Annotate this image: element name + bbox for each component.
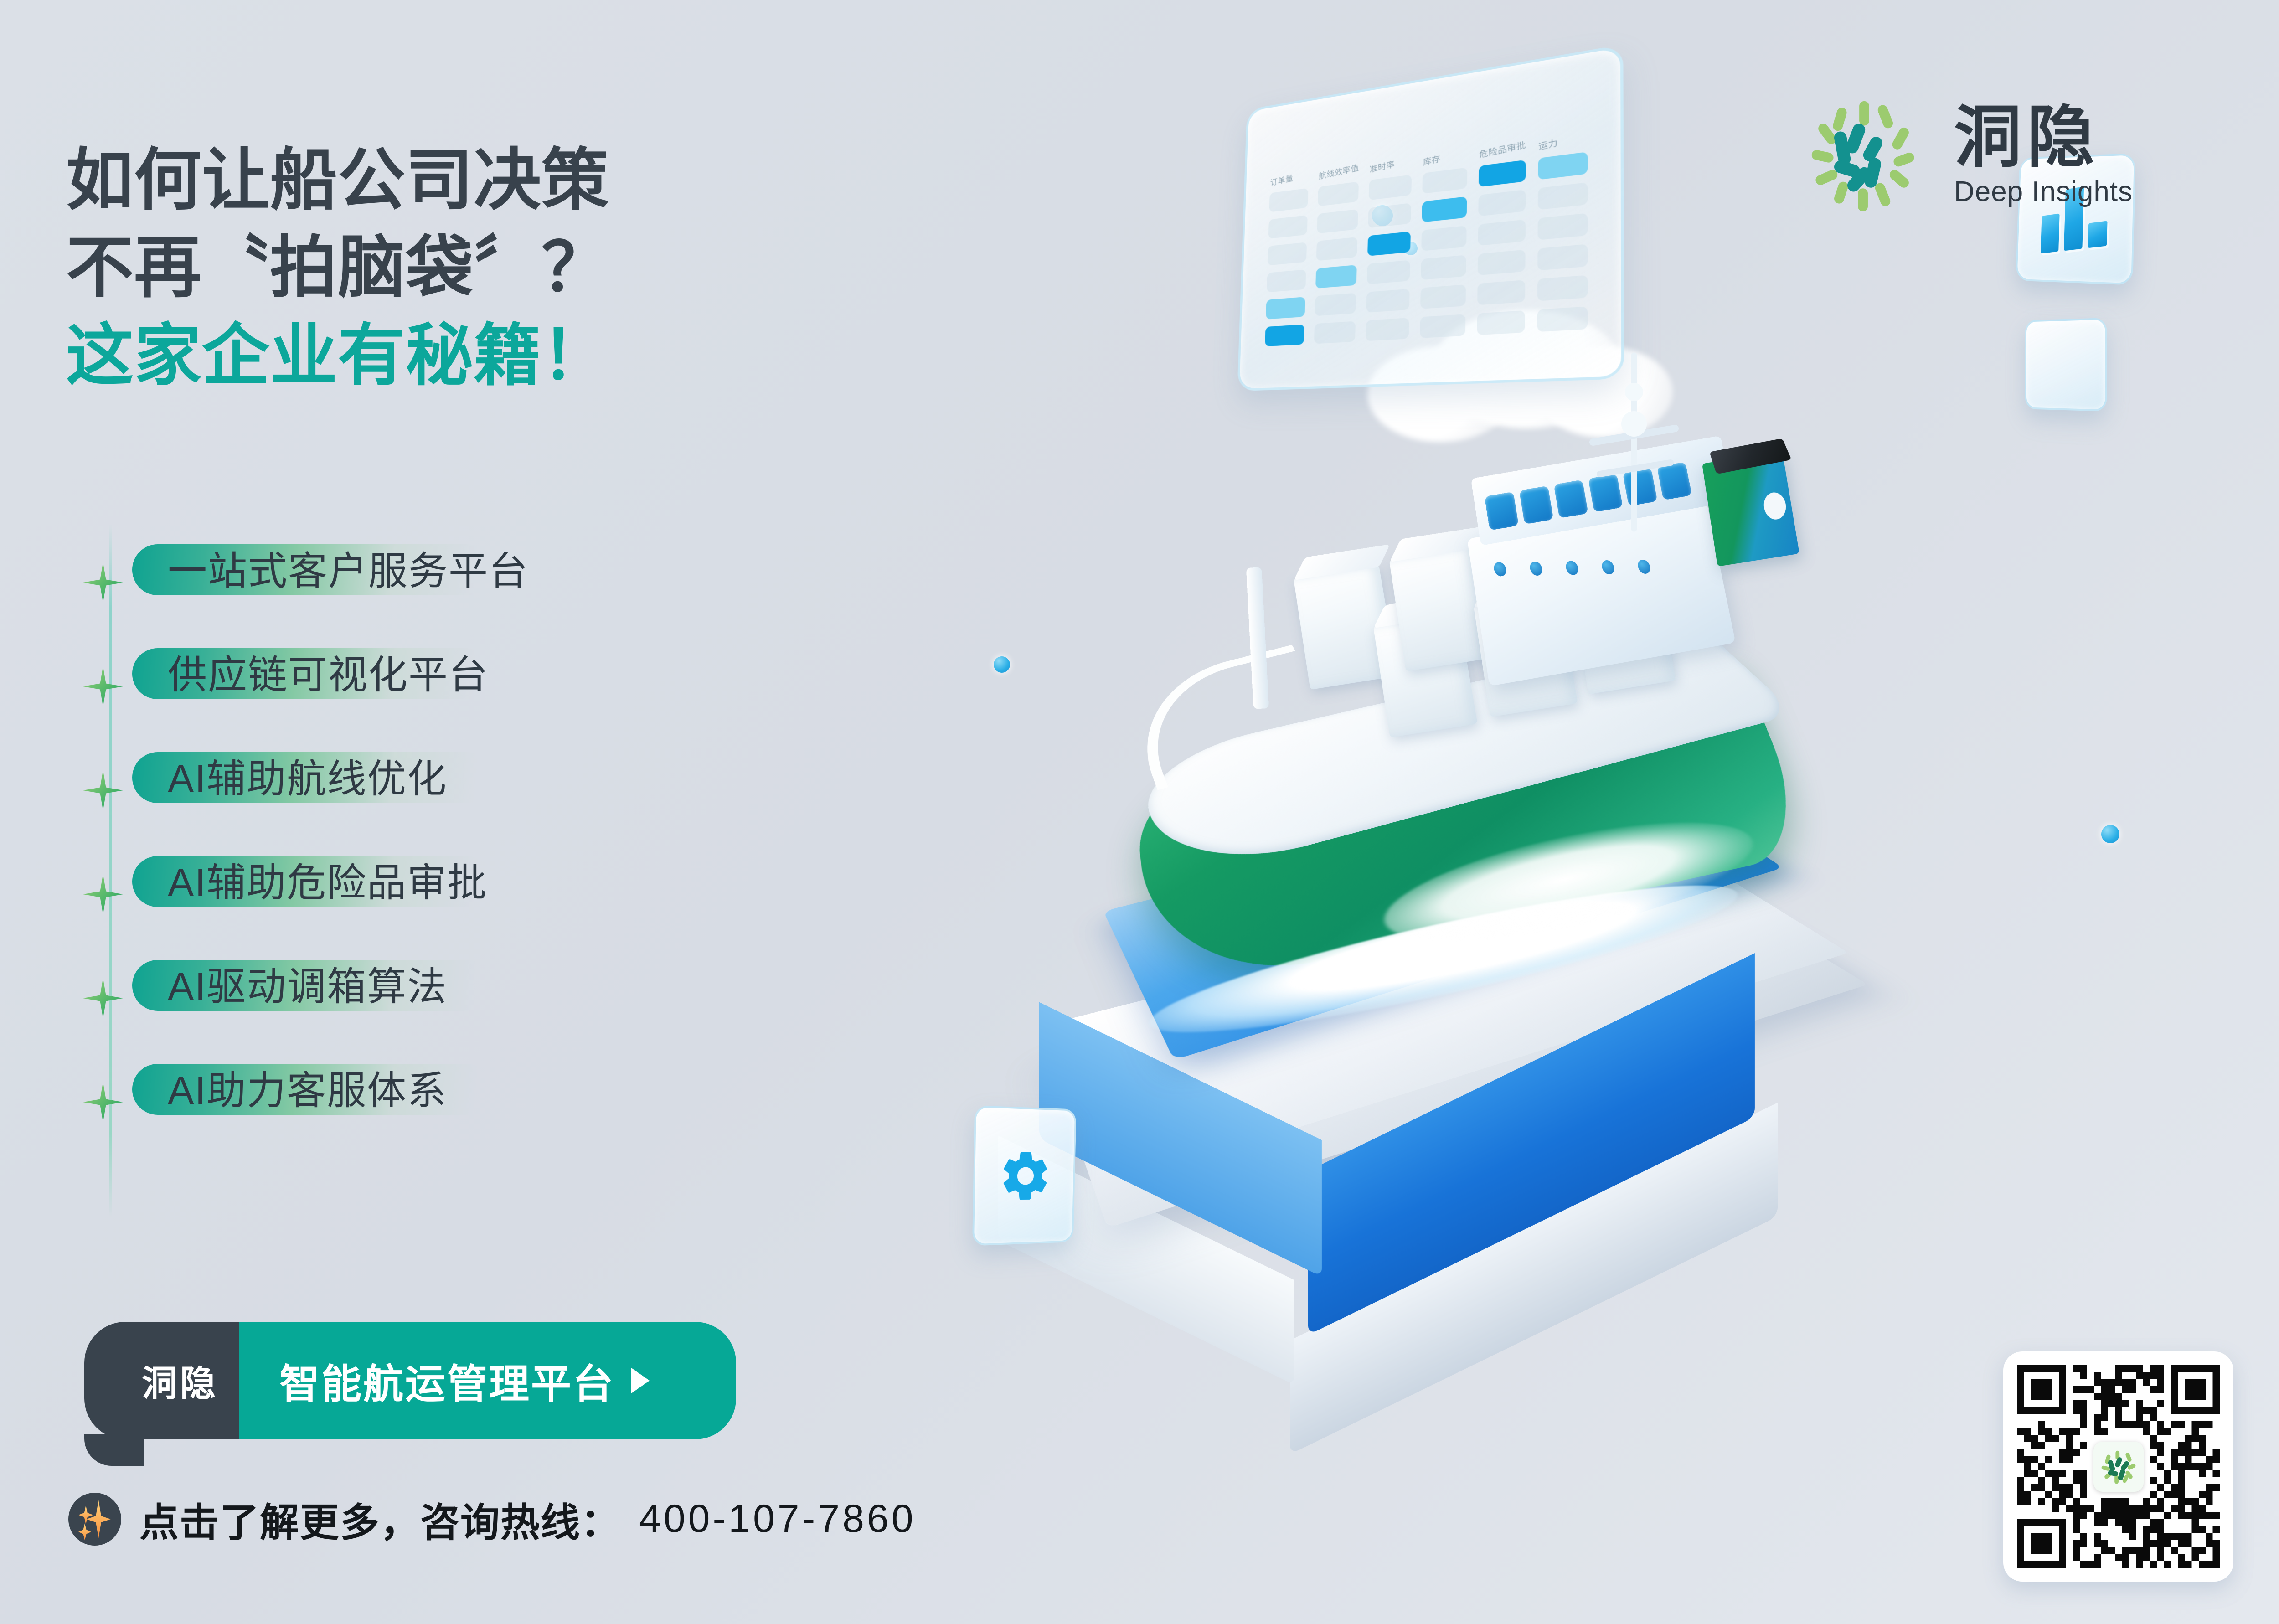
- feature-label: AI辅助危险品审批: [168, 863, 487, 902]
- dashboard-cell: [1367, 260, 1410, 284]
- sparkle-star-icon: [82, 1081, 124, 1123]
- dashboard-cell: [1421, 255, 1466, 280]
- dashboard-cell: [1478, 220, 1526, 246]
- dashboard-cell: [1317, 209, 1358, 234]
- dashboard-column-label: 准时率: [1369, 154, 1412, 173]
- page-title: 如何让船公司决策 不再〝拍脑袋〞？ 这家企业有秘籍！: [66, 137, 609, 400]
- feature-label: AI驱动调箱算法: [168, 967, 447, 1006]
- contact-phone[interactable]: 400-107-7860: [639, 1496, 916, 1542]
- feature-label: 一站式客户服务平台: [168, 552, 529, 591]
- dashboard-grid: 订单量 航线效率值 准时率: [1265, 131, 1588, 346]
- porthole-icon: [1493, 562, 1507, 577]
- settings-card[interactable]: [972, 1105, 1077, 1246]
- dashboard-cell: [1537, 244, 1588, 270]
- dashboard-cell: [1366, 318, 1409, 341]
- list-item[interactable]: AI助力客服体系: [0, 1057, 684, 1161]
- dashboard-cell: [1478, 190, 1526, 217]
- brand-name-en: Deep Insights: [1954, 175, 2133, 208]
- dashboard-cell: [1422, 167, 1467, 194]
- dashboard-column-label: 订单量: [1270, 168, 1309, 186]
- list-item[interactable]: AI驱动调箱算法: [0, 954, 684, 1057]
- cta-banner[interactable]: 洞隐 智能航运管理平台: [84, 1322, 859, 1440]
- wechat-qr-code[interactable]: [2003, 1351, 2233, 1582]
- dashboard-cell: [1316, 237, 1357, 261]
- sparkle-star-icon: [82, 873, 124, 915]
- porthole-row: [1493, 560, 1651, 577]
- porthole-icon: [1565, 561, 1579, 575]
- dashboard-cell: [1477, 280, 1525, 305]
- dashboard-cell: [1477, 310, 1525, 335]
- dashboard-column: 订单量: [1265, 170, 1309, 346]
- dashboard-cell: [1537, 275, 1588, 301]
- list-item[interactable]: 供应链可视化平台: [0, 642, 684, 746]
- dashboard-cell: [1538, 182, 1588, 210]
- feature-list: 一站式客户服务平台 供应链可视化平台 AI辅助航线优化 AI辅助危险品审批: [0, 538, 684, 1161]
- list-item[interactable]: 一站式客户服务平台: [0, 538, 684, 642]
- sparkle-star-icon: [82, 665, 124, 707]
- dashboard-cell: [1366, 289, 1409, 313]
- dashboard-cell: [1315, 265, 1357, 289]
- qr-logo-icon: [2093, 1442, 2144, 1492]
- dashboard-cell: [1367, 232, 1411, 256]
- dashboard-column: 运力: [1537, 131, 1588, 332]
- sparkle-star-icon: [82, 977, 124, 1019]
- dashboard-cell: [1265, 325, 1304, 347]
- dashboard-cell: [1269, 188, 1308, 212]
- dashboard-column-label: 库存: [1423, 146, 1468, 165]
- porthole-icon: [1529, 562, 1543, 576]
- dashboard-cell: [1479, 160, 1526, 187]
- qr-center-logo: [2093, 1442, 2144, 1492]
- dashboard-cell: [1314, 321, 1356, 344]
- dashboard-cell: [1537, 306, 1588, 332]
- dashboard-cell: [1315, 293, 1356, 316]
- headline-line-1: 如何让船公司决策: [66, 137, 609, 224]
- illustration-scene: 订单量 航线效率值 准时率: [843, 55, 2279, 1445]
- headline-line-2: 不再〝拍脑袋〞？: [66, 224, 609, 312]
- dashboard-cell: [1266, 297, 1305, 319]
- brand-logo-text: 洞隐 Deep Insights: [1954, 102, 2133, 208]
- dashboard-column: 航线效率值: [1314, 163, 1359, 344]
- dashboard-cell: [1421, 226, 1466, 251]
- dashboard-column: 危险品审批: [1477, 139, 1526, 335]
- dashboard-cell: [1420, 314, 1465, 338]
- headline-line-3: 这家企业有秘籍！: [66, 312, 609, 400]
- dashboard-cell: [1267, 269, 1306, 292]
- contact-row: 点击了解更多，咨询热线： 400-107-7860: [68, 1490, 916, 1547]
- gear-icon: [997, 1146, 1053, 1206]
- dashboard-column: 准时率: [1366, 155, 1412, 341]
- glass-dashboard-panel: 订单量 航线效率值 准时率: [1237, 44, 1624, 391]
- cta-brand-label: 洞隐: [142, 1355, 218, 1406]
- dashboard-cell: [1369, 175, 1412, 200]
- bridge-window: [1519, 485, 1554, 524]
- sparkle-star-icon: [82, 769, 124, 811]
- bubble-icon: [994, 656, 1010, 673]
- list-item[interactable]: AI辅助航线优化: [0, 746, 684, 850]
- dashboard-column-label: 航线效率值: [1318, 161, 1359, 179]
- blank-glass-card: [2025, 318, 2107, 412]
- cta-button[interactable]: 智能航运管理平台: [239, 1322, 736, 1439]
- ship-radar-mast: [1568, 337, 1723, 538]
- left-content-column: 如何让船公司决策 不再〝拍脑袋〞？ 这家企业有秘籍！ 一站式客户服务平台 供应链…: [0, 0, 866, 1624]
- cta-label: 智能航运管理平台: [279, 1352, 615, 1410]
- porthole-icon: [1601, 560, 1615, 574]
- dashboard-column: 库存: [1420, 148, 1468, 338]
- sparkle-star-icon: [82, 562, 124, 603]
- dashboard-cell: [1318, 181, 1359, 206]
- dashboard-cell: [1422, 196, 1467, 222]
- qr-canvas: [2017, 1365, 2220, 1568]
- feature-label: AI助力客服体系: [168, 1071, 447, 1110]
- dashboard-cell: [1268, 242, 1307, 265]
- dashboard-cell: [1420, 284, 1466, 309]
- list-item[interactable]: AI辅助危险品审批: [0, 850, 684, 954]
- dashboard-column-label: 运力: [1538, 129, 1588, 150]
- dashboard-cell: [1368, 203, 1411, 228]
- contact-label: 点击了解更多，咨询热线：: [139, 1490, 621, 1547]
- sparkle-icon: [68, 1493, 121, 1546]
- brand-logo[interactable]: 洞隐 Deep Insights: [1798, 89, 2133, 221]
- play-triangle-icon: [631, 1368, 650, 1393]
- feature-label: AI辅助航线优化: [168, 759, 447, 799]
- dashboard-cell: [1268, 215, 1308, 239]
- dashboard-cell: [1538, 213, 1588, 240]
- bubble-icon: [2101, 825, 2119, 843]
- bridge-window: [1485, 492, 1519, 531]
- brand-name-cn: 洞隐: [1954, 102, 2133, 173]
- logo-mark-icon: [1798, 89, 1930, 221]
- dashboard-cell: [1538, 152, 1588, 180]
- sparkle-badge: [68, 1493, 121, 1546]
- dashboard-column-label: 危险品审批: [1479, 138, 1526, 158]
- deep-insights-dot-circle-logo: [1798, 89, 1930, 221]
- feature-label: 供应链可视化平台: [168, 655, 489, 695]
- dashboard-cell: [1478, 250, 1526, 276]
